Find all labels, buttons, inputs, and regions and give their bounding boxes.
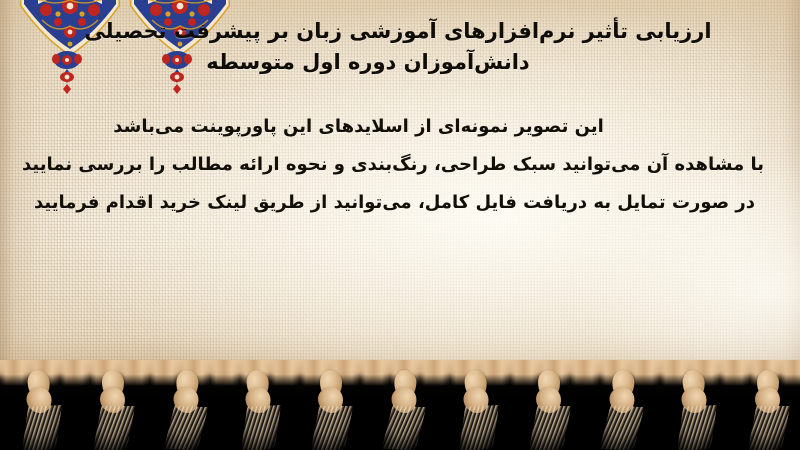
slide-title-line-1: ارزیابی تأثیر نرم‌افزارهای آموزشی زبان ب… xyxy=(28,16,768,47)
tassel-strands xyxy=(240,405,280,450)
carpet-tassel xyxy=(382,369,428,449)
presentation-slide: ارزیابی تأثیر نرم‌افزارهای آموزشی زبان ب… xyxy=(0,0,800,450)
carpet-tassel xyxy=(18,369,64,449)
carpet-tassel xyxy=(93,370,135,448)
slide-body-line-2: با مشاهده آن می‌توانید سبک طراحی، رنگ‌بن… xyxy=(25,146,770,184)
tassel-strands xyxy=(311,406,354,450)
carpet-tassel xyxy=(455,369,501,449)
tassel-strands xyxy=(93,406,136,450)
carpet-tassel xyxy=(673,369,719,449)
slide-body-line-1: این تصویر نمونه‌ای از اسلایدهای این پاور… xyxy=(25,108,770,146)
carpet-tassel xyxy=(164,369,210,449)
carpet-tassel xyxy=(237,369,283,449)
carpet-tassel xyxy=(311,370,353,448)
carpet-fringe xyxy=(0,360,800,450)
slide-body: این تصویر نمونه‌ای از اسلایدهای این پاور… xyxy=(25,108,770,222)
tassel-strands xyxy=(459,405,499,450)
slide-body-line-3: در صورت تمایل به دریافت فایل کامل، می‌تو… xyxy=(25,184,770,222)
tassel-strands xyxy=(382,405,427,450)
tassel-strands xyxy=(747,406,790,450)
tassel-strands xyxy=(529,406,572,450)
carpet-tassel xyxy=(529,370,571,448)
carpet-tassel xyxy=(748,370,790,448)
tassel-strands xyxy=(22,405,62,450)
carpet-tassel xyxy=(600,369,646,449)
slide-text-layer: ارزیابی تأثیر نرم‌افزارهای آموزشی زبان ب… xyxy=(0,0,800,372)
tassel-strands xyxy=(677,405,717,450)
tassel-strands xyxy=(600,405,645,450)
slide-title-line-2: دانش‌آموزان دوره اول متوسطه xyxy=(28,47,768,78)
slide-title: ارزیابی تأثیر نرم‌افزارهای آموزشی زبان ب… xyxy=(28,16,768,78)
tassel-strands xyxy=(163,405,208,450)
